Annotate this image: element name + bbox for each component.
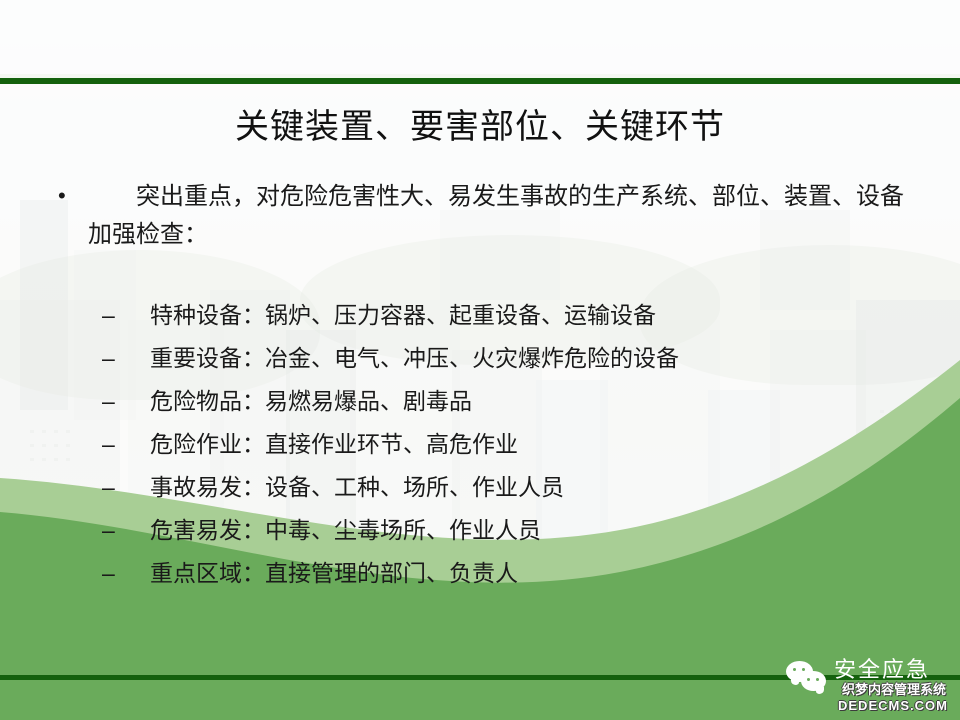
- dash-bullet-icon: –: [102, 429, 124, 459]
- dash-bullet-icon: –: [102, 515, 124, 545]
- watermark-cms-url: DEDECMS.COM: [838, 698, 948, 713]
- list-item: – 危险作业：直接作业环节、高危作业: [100, 429, 920, 472]
- dash-bullet-icon: –: [102, 343, 124, 373]
- dash-bullet-icon: –: [102, 300, 124, 330]
- bullet-dot-icon: •: [58, 184, 66, 208]
- list-item-label: 危害易发：中毒、尘毒场所、作业人员: [150, 515, 541, 545]
- slide-content: 关键装置、要害部位、关键环节 • 突出重点，对危险危害性大、易发生事故的生产系统…: [0, 0, 960, 720]
- list-item: – 重点区域：直接管理的部门、负责人: [100, 558, 920, 601]
- list-item: – 特种设备：锅炉、压力容器、起重设备、运输设备: [100, 300, 920, 343]
- wechat-bubble-large-tail: [791, 678, 799, 685]
- dash-bullet-list: – 特种设备：锅炉、压力容器、起重设备、运输设备 – 重要设备：冶金、电气、冲压…: [100, 300, 920, 601]
- wechat-icon: [786, 660, 830, 694]
- watermark-account-name: 安全应急: [834, 656, 930, 684]
- list-item-label: 危险作业：直接作业环节、高危作业: [150, 429, 518, 459]
- lead-paragraph-text: 突出重点，对危险危害性大、易发生事故的生产系统、部位、装置、设备加强检查：: [52, 178, 912, 254]
- list-item-label: 事故易发：设备、工种、场所、作业人员: [150, 472, 564, 502]
- lead-paragraph: • 突出重点，对危险危害性大、易发生事故的生产系统、部位、装置、设备加强检查：: [52, 178, 912, 254]
- watermark-block: 安全应急 织梦内容管理系统 DEDECMS.COM: [786, 652, 960, 714]
- list-item-label: 重点区域：直接管理的部门、负责人: [150, 558, 518, 588]
- list-item-label: 危险物品：易燃易爆品、剧毒品: [150, 386, 472, 416]
- list-item: – 危害易发：中毒、尘毒场所、作业人员: [100, 515, 920, 558]
- slide-canvas: 关键装置、要害部位、关键环节 • 突出重点，对危险危害性大、易发生事故的生产系统…: [0, 0, 960, 720]
- list-item-label: 重要设备：冶金、电气、冲压、火灾爆炸危险的设备: [150, 343, 679, 373]
- page-title: 关键装置、要害部位、关键环节: [0, 105, 960, 149]
- dash-bullet-icon: –: [102, 558, 124, 588]
- list-item-label: 特种设备：锅炉、压力容器、起重设备、运输设备: [150, 300, 656, 330]
- dash-bullet-icon: –: [102, 472, 124, 502]
- dash-bullet-icon: –: [102, 386, 124, 416]
- list-item: – 危险物品：易燃易爆品、剧毒品: [100, 386, 920, 429]
- list-item: – 事故易发：设备、工种、场所、作业人员: [100, 472, 920, 515]
- wechat-bubble-small-tail: [816, 687, 824, 694]
- list-item: – 重要设备：冶金、电气、冲压、火灾爆炸危险的设备: [100, 343, 920, 386]
- watermark-cms-name: 织梦内容管理系统: [842, 682, 946, 697]
